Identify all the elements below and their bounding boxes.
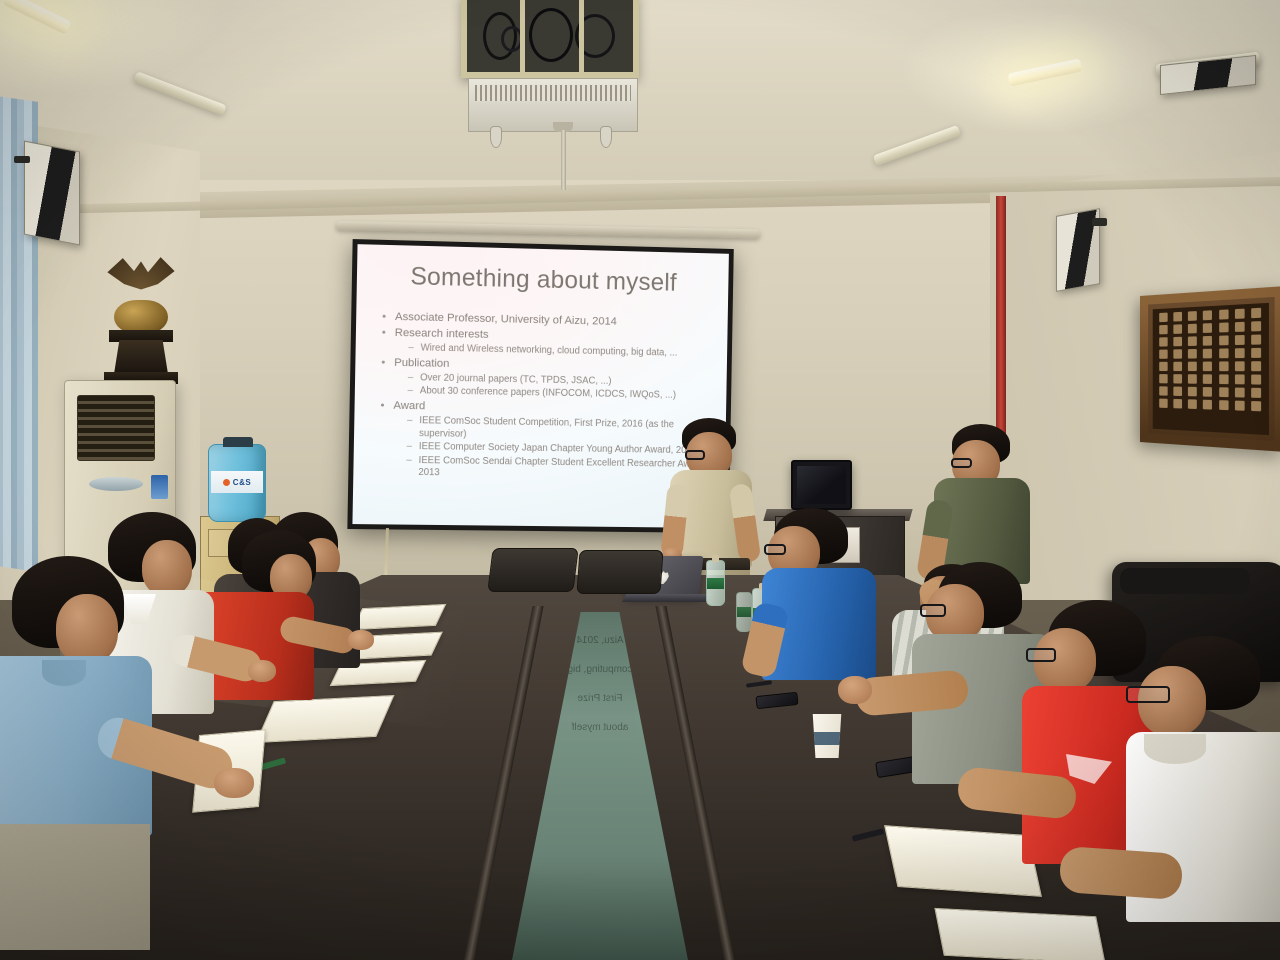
bullet-mark: – xyxy=(407,415,413,440)
attendee-glasses-icon xyxy=(1126,686,1170,703)
standpipe xyxy=(996,196,1006,436)
bullet-mark: • xyxy=(381,355,385,370)
ac-grill xyxy=(77,395,155,461)
presenter-glasses-icon xyxy=(685,450,705,460)
bottle-cap xyxy=(223,437,253,447)
desktop-monitor xyxy=(791,460,852,510)
plaque-inner xyxy=(1153,303,1269,435)
attendee-shorts xyxy=(0,824,150,950)
attendee-glasses-icon xyxy=(1026,648,1056,662)
attendee-head xyxy=(56,594,118,664)
trophy-base-mid xyxy=(114,340,168,374)
backpack-flap xyxy=(1120,568,1250,594)
cup-band xyxy=(814,732,840,745)
projector-wiring xyxy=(471,4,629,68)
bullet-text: Award xyxy=(393,399,425,415)
projector-vents xyxy=(475,85,631,101)
bottle-brand: C&S xyxy=(233,478,251,487)
monitor-screen xyxy=(797,466,846,504)
speaker-bracket-left xyxy=(14,156,30,163)
bottle-label: C&S xyxy=(211,471,263,493)
bullet-mark: – xyxy=(406,455,412,480)
water-bottle: C&S xyxy=(208,444,266,522)
bottle-logo-icon xyxy=(223,479,230,486)
projector-cage xyxy=(461,0,639,78)
attendee-glasses-icon xyxy=(920,604,946,617)
slide-title: Something about myself xyxy=(357,261,729,299)
observer-glasses-icon xyxy=(951,458,972,468)
bullet-text: Publication xyxy=(394,356,449,372)
paper-cup xyxy=(810,714,844,758)
bottle-label xyxy=(707,578,724,589)
chair-1 xyxy=(487,548,578,592)
bullet-mark: – xyxy=(408,342,414,355)
calligraphy-plaque xyxy=(1140,286,1280,452)
attendee-left-1 xyxy=(0,556,214,960)
bullet-text: Research interests xyxy=(395,326,489,343)
bullet-mark: – xyxy=(407,385,413,398)
attendee-hand xyxy=(348,630,374,650)
attendee-hand xyxy=(838,676,872,704)
eagle-trophy xyxy=(92,256,188,396)
bullet-mark: • xyxy=(382,310,386,325)
attendee-glasses-icon xyxy=(764,544,786,555)
bullet-mark: – xyxy=(408,372,414,385)
ac-badge xyxy=(89,477,143,491)
trophy-globe xyxy=(114,300,168,334)
laptop-base xyxy=(622,594,712,602)
bottle-cap xyxy=(712,555,720,562)
projector-mount-foot-2 xyxy=(600,126,612,148)
tshirt-neckline xyxy=(1144,734,1206,764)
attendee-hand xyxy=(214,768,254,798)
attendee-right-5 xyxy=(1126,636,1280,960)
bullet-mark: – xyxy=(406,441,412,454)
wall-speaker-left xyxy=(24,141,80,246)
bullet-mark: • xyxy=(382,326,386,341)
water-bottle-desk-1 xyxy=(706,560,725,606)
tshirt-neckline xyxy=(42,660,86,686)
speaker-bracket-right xyxy=(1092,218,1107,226)
attendee-hand xyxy=(248,660,276,682)
attendee-arm xyxy=(1059,846,1184,900)
bottle-label xyxy=(737,607,751,617)
projector-mount-foot-1 xyxy=(490,126,502,148)
projector-pole xyxy=(561,130,566,190)
ac-sticker xyxy=(151,475,168,499)
seminar-room-photo: C&S Something about myself • Associate P… xyxy=(0,0,1280,960)
bullet-mark: • xyxy=(380,399,384,414)
chair-2 xyxy=(576,550,663,594)
